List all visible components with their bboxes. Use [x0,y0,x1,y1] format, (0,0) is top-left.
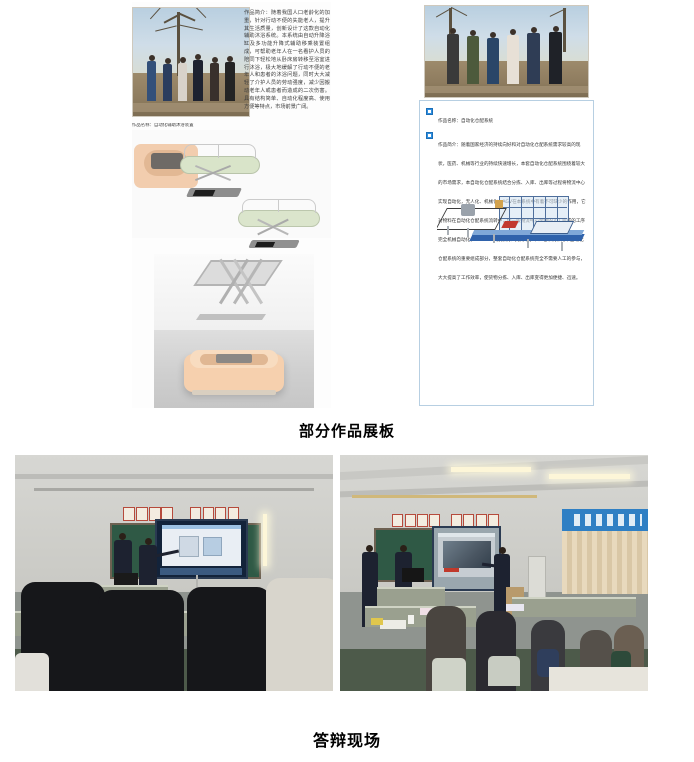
photo-person [507,35,519,84]
ceiling-pipe [352,495,537,498]
poster-left-render-3 [154,254,314,330]
blackboard-calligraphy [123,507,135,521]
ceiling-fluorescent-light [451,467,531,472]
blackboard-calligraphy [417,514,428,527]
tree-trunk [563,8,566,52]
wall-light-strip [263,514,267,566]
projection-screen [432,526,501,591]
lift-base-block [193,190,216,196]
slide-model-right [203,537,222,556]
photo-person-head [531,27,537,33]
bullet-icon [426,132,433,139]
photo-person-head [195,54,201,60]
poster-row: 作品名称：自动化辅助沐浴装置 作品简介：随着我国人口老龄化的加重，针对行动不便的… [0,0,694,418]
photo-person-head [490,32,496,38]
poster-left-project-caption: 作品名称：自动化辅助沐浴装置 [132,123,250,129]
support-leg [561,242,563,251]
presenter-head [499,547,506,554]
photo-person [210,63,219,101]
photo-path [425,86,588,93]
photo-person [163,64,172,101]
bed-base-block [255,242,275,247]
rack-beam [499,207,567,208]
lift-bed-rail-post [218,144,219,158]
desk-box [371,618,383,625]
audience-member [266,578,333,691]
photo-person [487,38,499,84]
support-leg [527,239,529,248]
projection-screen [155,519,248,580]
caption-posters: 部分作品展板 [0,420,694,441]
rack-upright [521,196,522,230]
poster-right-group-photo [424,5,589,98]
support-leg [467,228,469,237]
slide-model-left [179,536,198,557]
defense-photo-right [340,455,648,691]
rack-beam [499,218,567,219]
chair-back [488,656,520,687]
photo-path [133,103,249,112]
photo-person-head [149,55,155,61]
ceiling-fluorescent-light [549,474,629,479]
slide-titlebar [162,525,240,529]
poster-right-render-1 [437,194,589,256]
audience-member [187,587,271,691]
chair-back [432,658,466,691]
screen-toolbar [160,568,242,575]
name-card [506,604,524,611]
audience-member [98,590,184,691]
tub-platform [216,354,252,363]
photo-person-head [212,57,218,63]
photo-person-head [180,57,186,63]
slide-titlebar [438,533,495,537]
lift-bed-rail [184,144,256,159]
bathtub-platform [151,153,183,169]
photo-person [193,60,203,101]
blackboard-calligraphy [405,514,416,527]
photo-person [178,63,187,101]
poster-left[interactable]: 作品名称：自动化辅助沐浴装置 作品简介：随着我国人口老龄化的加重，针对行动不便的… [132,2,331,408]
defense-photo-left [15,455,333,691]
sorter-unit [461,204,475,216]
photo-person [467,36,479,84]
support-leg [493,234,495,243]
photo-person-head [553,26,559,32]
poster-left-group-photo [132,7,250,117]
lift-table-base [196,314,266,320]
pallet-load [495,200,503,208]
poster-left-render-4 [154,330,314,408]
screen-slide [438,533,495,577]
photo-person [147,61,156,101]
caption-defense: 答辩现场 [0,727,694,751]
monitor [402,568,424,582]
photo-person-head [450,28,456,34]
photo-person [225,62,235,101]
photo-person-head [227,56,233,62]
presenter-head [119,533,126,540]
photo-person [549,32,562,84]
desk-papers [380,620,406,629]
photo-person-head [470,30,476,36]
photo-person [527,33,540,84]
tub-foot-base [192,390,276,395]
poster-right-title-row: 作品名称：自动化仓配系统 [426,107,587,126]
jury-desk [512,597,635,618]
poster-left-render-2 [232,192,331,258]
ceiling-beam [15,474,333,479]
chair-back [15,653,49,691]
bed-rail-post [278,199,279,212]
screen-slide [162,525,240,566]
foreground-table [549,667,648,691]
photo-person-head [165,58,171,64]
poster-right-title-text: 作品名称：自动化仓配系统 [438,119,493,124]
poster-right[interactable]: 作品名称：自动化仓配系统 作品简介：随着国家经济的持续向好和对自动化仓配系统需求… [419,2,594,406]
conveyor-panel [530,221,574,234]
desk-cup [408,615,414,624]
support-leg [447,226,449,235]
ceiling-pipe [34,488,314,491]
photo-person-head [510,29,516,35]
slide-highlight [444,568,459,572]
banner-text [574,514,642,526]
presenter-head [145,538,152,545]
laptop [114,573,138,585]
bullet-icon [426,108,433,115]
blackboard-calligraphy [136,507,148,521]
poster-left-intro-text: 作品简介：随着我国人口老龄化的加重，针对行动不便的失能老人，提升其生活质量，创新… [244,10,330,111]
photo-person [447,34,459,84]
blackboard-calligraphy [392,514,403,527]
presenter-head [366,545,373,552]
